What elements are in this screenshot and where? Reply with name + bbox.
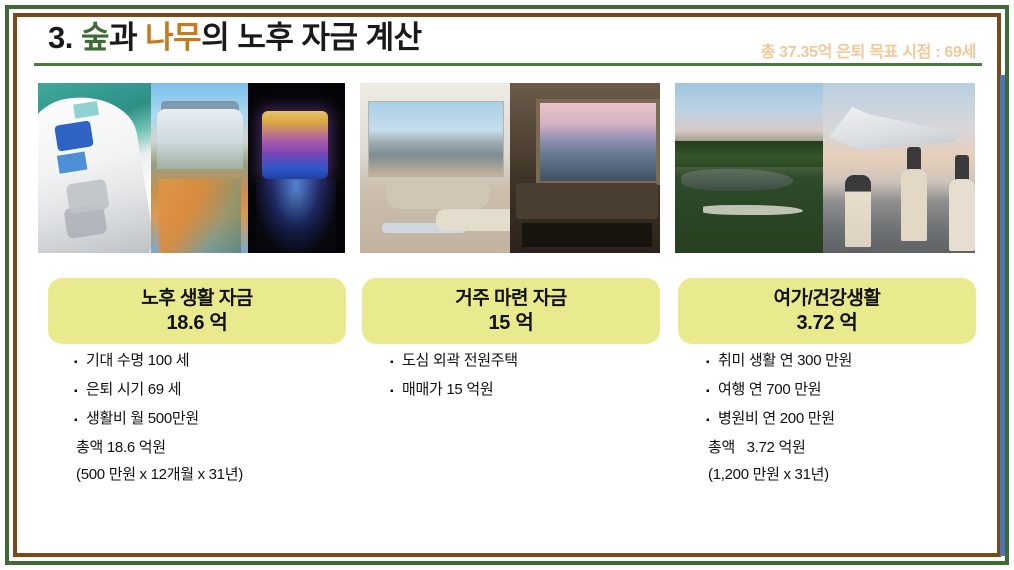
title-particle: 과 [109, 20, 145, 55]
bullet-square-icon: ▪ [706, 354, 718, 372]
photo-strip [38, 83, 975, 253]
title-rest: 의 노후 자금 계산 [201, 20, 421, 55]
list-item: ▪ 도심 외곽 전원주택 [390, 352, 690, 372]
list-item: ▪ 매매가 15 억원 [390, 381, 690, 401]
title-number: 3. [48, 20, 81, 55]
total-amount-note: 총액 3.72 억원 [706, 439, 1006, 457]
card-title: 노후 생활 자금 [141, 287, 252, 311]
bullet-square-icon: ▪ [390, 354, 402, 372]
card-amount: 3.72 억 [796, 311, 857, 336]
living-room-river-view-photo [360, 83, 510, 253]
golf-course-photo [675, 83, 823, 253]
list-item-label: 생활비 월 500만원 [86, 410, 199, 428]
detail-column-housing: ▪ 도심 외곽 전원주택 ▪ 매매가 15 억원 [390, 352, 690, 410]
cruise-ship-aerial-photo [38, 83, 151, 253]
list-item: ▪ 병원비 연 200 만원 [706, 410, 1006, 430]
dining-room-sunset-view-photo [510, 83, 660, 253]
list-item-label: 병원비 연 200 만원 [718, 410, 835, 428]
card-amount: 18.6 억 [166, 311, 227, 336]
list-item-label: 도심 외곽 전원주택 [402, 352, 518, 370]
list-item-label: 기대 수명 100 세 [86, 352, 189, 370]
list-item: ▪ 여행 연 700 만원 [706, 381, 1006, 401]
cruise-ship-night-photo [248, 83, 345, 253]
calculation-note: (1,200 만원 x 31년) [706, 466, 1006, 484]
bullet-square-icon: ▪ [74, 383, 86, 401]
card-housing-fund: 거주 마련 자금 15 억 [362, 278, 660, 344]
bullet-square-icon: ▪ [706, 383, 718, 401]
list-item-label: 은퇴 시기 69 세 [86, 381, 181, 399]
list-item: ▪ 기대 수명 100 세 [74, 352, 374, 372]
housing-photos [360, 83, 660, 253]
card-leisure-health-fund: 여가/건강생활 3.72 억 [678, 278, 976, 344]
cruise-ship-deck-photo [151, 83, 248, 253]
list-item-label: 여행 연 700 만원 [718, 381, 821, 399]
card-amount: 15 억 [488, 311, 533, 336]
bullet-square-icon: ▪ [74, 354, 86, 372]
title-word-forest: 숲 [81, 20, 109, 55]
detail-column-leisure-health: ▪ 취미 생활 연 300 만원 ▪ 여행 연 700 만원 ▪ 병원비 연 2… [706, 352, 1006, 493]
bullet-square-icon: ▪ [390, 383, 402, 401]
leisure-photos [675, 83, 975, 253]
slide-header: 3. 숲과 나무의 노후 자금 계산 총 37.35억 은퇴 목표 시점 : 6… [34, 16, 982, 68]
retirement-goal-subtitle: 총 37.35억 은퇴 목표 시점 : 69세 [761, 38, 976, 62]
title-word-tree: 나무 [145, 20, 201, 55]
card-title: 여가/건강생활 [774, 287, 881, 311]
list-item-label: 매매가 15 억원 [402, 381, 493, 399]
list-item-label: 취미 생활 연 300 만원 [718, 352, 852, 370]
bullet-square-icon: ▪ [74, 412, 86, 430]
card-retirement-living-fund: 노후 생활 자금 18.6 억 [48, 278, 346, 344]
page-title: 3. 숲과 나무의 노후 자금 계산 [48, 16, 422, 60]
bullet-square-icon: ▪ [706, 412, 718, 430]
right-edge-marker-bar[interactable] [1000, 75, 1005, 556]
card-title: 거주 마련 자금 [455, 287, 566, 311]
retirement-living-photos [38, 83, 345, 253]
list-item: ▪ 취미 생활 연 300 만원 [706, 352, 1006, 372]
title-underline-rule [34, 63, 982, 66]
total-amount-note: 총액 18.6 억원 [74, 439, 374, 457]
slide-canvas: 3. 숲과 나무의 노후 자금 계산 총 37.35억 은퇴 목표 시점 : 6… [0, 0, 1014, 570]
detail-column-retirement-living: ▪ 기대 수명 100 세 ▪ 은퇴 시기 69 세 ▪ 생활비 월 500만원… [74, 352, 374, 493]
list-item: ▪ 생활비 월 500만원 [74, 410, 374, 430]
list-item: ▪ 은퇴 시기 69 세 [74, 381, 374, 401]
airport-travel-photo [823, 83, 975, 253]
calculation-note: (500 만원 x 12개월 x 31년) [74, 466, 374, 484]
